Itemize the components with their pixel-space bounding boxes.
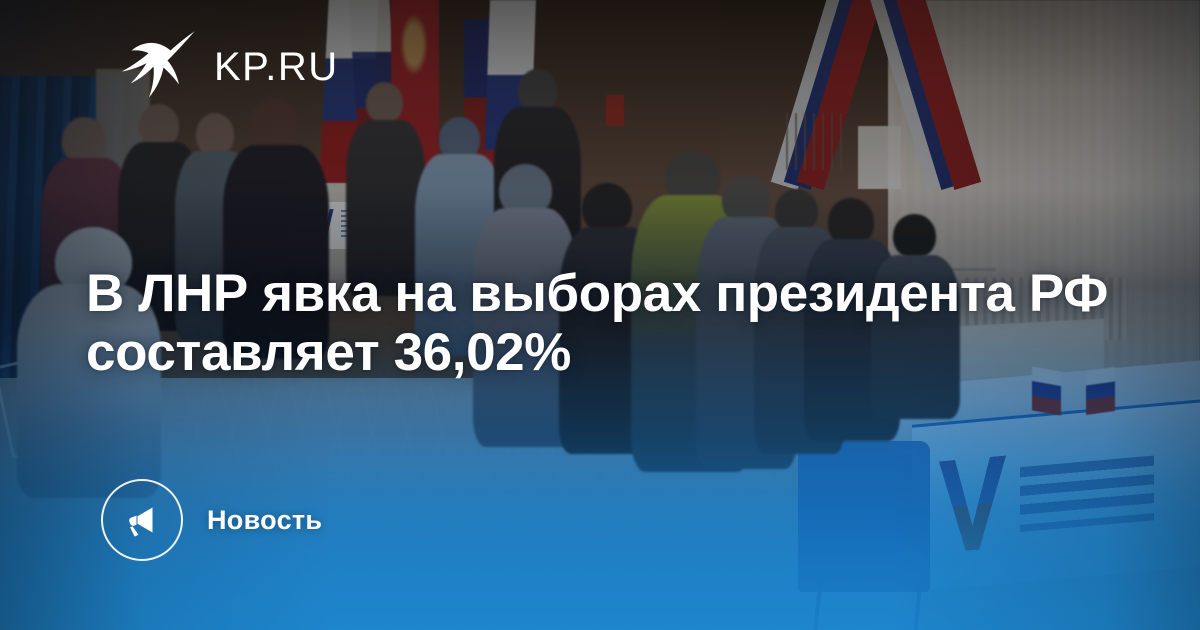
brand-name: KP.RU (214, 47, 339, 87)
social-share-card: KP.RU В ЛНР явка на выборах президента Р… (0, 0, 1200, 630)
swallow-bird-icon (110, 28, 196, 105)
megaphone-icon (101, 479, 183, 561)
brand-logo[interactable]: KP.RU (110, 28, 339, 105)
status-badge[interactable]: Новость (101, 479, 322, 561)
page-title: В ЛНР явка на выборах президента РФ сост… (86, 264, 1116, 384)
status-badge-label: Новость (207, 505, 322, 536)
